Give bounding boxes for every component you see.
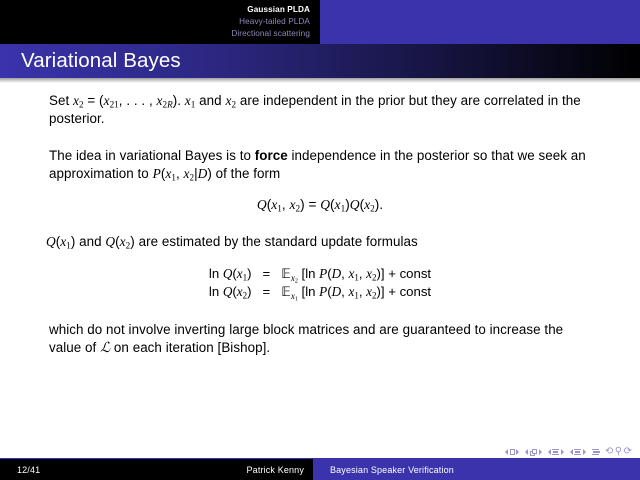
slide-navigation-group[interactable]: [505, 449, 519, 455]
forward-icon[interactable]: ⟳: [624, 447, 632, 457]
nav-item-gaussian-plda[interactable]: Gaussian PLDA: [247, 4, 310, 16]
headline-nav-list: Gaussian PLDA Heavy-tailed PLDA Directio…: [0, 0, 320, 44]
aligned-equation-block: ln Q(x1) = 𝔼x2 [ln P(D, x1, x2)] + const…: [0, 251, 640, 303]
equation-lhs-ln-q-x2: ln Q(x2): [209, 283, 263, 301]
const-label-1: const: [400, 266, 432, 281]
footline: 12/41 Patrick Kenny Bayesian Speaker Ver…: [0, 459, 640, 480]
frame-title-bar: Variational Bayes: [0, 44, 640, 78]
author-name: Patrick Kenny: [247, 465, 304, 475]
paragraph-3-segment-2: are estimated by the standard update for…: [135, 234, 418, 249]
paragraph-update-formulas: Q(x1) and Q(x2) are estimated by the sta…: [0, 215, 640, 251]
paragraph-set-x2: Set x2 = (x21, . . . , x2R). x1 and x2 a…: [0, 86, 640, 129]
paragraph-conclusion: which do not involve inverting large blo…: [0, 303, 640, 359]
slide-body: Set x2 = (x21, . . . , x2R). x1 and x2 a…: [0, 86, 640, 359]
nav-item-directional-scattering[interactable]: Directional scattering: [231, 28, 310, 40]
frame-title-shadow: [0, 78, 640, 83]
equation-rhs-expectation-x1: 𝔼x1 [ln P(D, x1, x2)] + const: [281, 283, 431, 301]
equation-lhs-ln-q-x1: ln Q(x1): [209, 265, 263, 283]
subsection-icon[interactable]: [552, 449, 559, 455]
subsection-navigation-group[interactable]: [548, 449, 564, 455]
blackboard-E-icon: 𝔼: [281, 266, 291, 281]
frame-navigation-group[interactable]: [525, 449, 542, 456]
paragraph-2-segment-3: of the form: [212, 166, 280, 181]
search-icon[interactable]: ⚲: [615, 447, 622, 457]
section-forward-icon[interactable]: [583, 449, 586, 455]
frame-forward-icon[interactable]: [539, 449, 542, 455]
presentation-icon[interactable]: [592, 449, 599, 455]
paragraph-2-segment-1: The idea in variational Bayes is to: [49, 148, 255, 163]
presentation-slide: Gaussian PLDA Heavy-tailed PLDA Directio…: [0, 0, 640, 480]
paragraph-force-independence: The idea in variational Bayes is to forc…: [0, 129, 640, 184]
page-number-indicator: 12/41: [0, 465, 40, 475]
equation-relation-2: =: [263, 283, 282, 301]
beamer-navigation-symbols: ⟲ ⚲ ⟳: [505, 446, 632, 458]
back-icon[interactable]: ⟲: [605, 447, 613, 457]
equation-rhs-expectation-x2: 𝔼x2 [ln P(D, x1, x2)] + const: [281, 265, 431, 283]
section-navigation-group[interactable]: [570, 449, 586, 455]
paragraph-3-segment-1: and: [75, 234, 105, 249]
slide-forward-icon[interactable]: [516, 449, 519, 455]
paragraph-4-segment-2: on each iteration [Bishop].: [110, 340, 270, 355]
subsection-backward-icon[interactable]: [548, 449, 551, 455]
headline-accent-block: [320, 0, 640, 44]
footline-left-section: 12/41 Patrick Kenny: [0, 459, 313, 480]
presentation-short-title: Bayesian Speaker Verification: [313, 465, 454, 475]
page-title: Variational Bayes: [0, 49, 181, 73]
equation-row-q-x2: ln Q(x2) = 𝔼x1 [ln P(D, x1, x2)] + const: [209, 283, 431, 301]
footline-right-section: Bayesian Speaker Verification: [313, 459, 640, 480]
paragraph-1-text-a: Set: [49, 93, 73, 108]
script-L-symbol: ℒ: [100, 341, 110, 356]
doc-navigation-group[interactable]: ⟲ ⚲ ⟳: [605, 447, 632, 457]
frame-icon[interactable]: [530, 449, 538, 456]
const-label-2: const: [400, 284, 432, 299]
emphasis-force: force: [255, 148, 288, 163]
subsection-forward-icon[interactable]: [561, 449, 564, 455]
frame-backward-icon[interactable]: [525, 449, 528, 455]
equation-table: ln Q(x1) = 𝔼x2 [ln P(D, x1, x2)] + const…: [209, 265, 431, 301]
equation-relation-1: =: [263, 265, 282, 283]
display-equation-factorization: Q(x1, x2) = Q(x1)Q(x2).: [0, 184, 640, 215]
slide-backward-icon[interactable]: [505, 449, 508, 455]
slide-icon[interactable]: [510, 449, 515, 454]
blackboard-E-icon: 𝔼: [281, 284, 291, 299]
equation-row-q-x1: ln Q(x1) = 𝔼x2 [ln P(D, x1, x2)] + const: [209, 265, 431, 283]
section-icon[interactable]: [574, 449, 581, 455]
nav-item-heavy-tailed-plda[interactable]: Heavy-tailed PLDA: [239, 16, 310, 28]
section-backward-icon[interactable]: [570, 449, 573, 455]
headline-navigation-bar: Gaussian PLDA Heavy-tailed PLDA Directio…: [0, 0, 640, 44]
